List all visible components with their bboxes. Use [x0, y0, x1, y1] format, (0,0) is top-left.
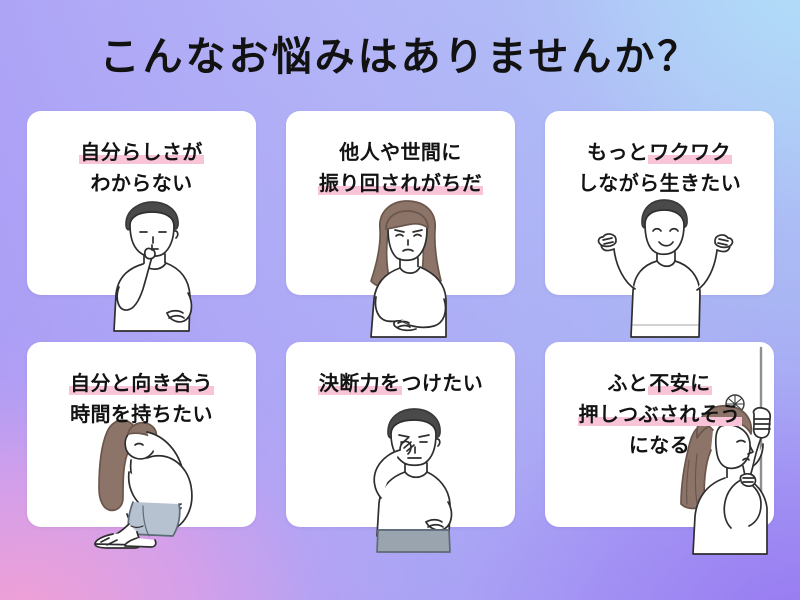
worry-card-1-text: 自分らしさが わからない — [27, 137, 256, 199]
excited-man-arms-raised-icon — [581, 197, 747, 339]
highlighted-phrase: 決断力を — [318, 371, 402, 395]
worry-card-4[interactable]: 自分と向き合う 時間を持ちたい — [27, 342, 256, 527]
plain-phrase: もっと — [587, 140, 648, 164]
worry-card-grid: 自分らしさが わからない — [27, 111, 773, 527]
worry-card-4-text: 自分と向き合う 時間を持ちたい — [27, 368, 256, 430]
worry-card-6[interactable]: ふと不安に 押しつぶされそう になる — [545, 342, 774, 527]
highlighted-phrase: 自分らしさが — [79, 140, 203, 164]
worry-card-6-text: ふと不安に 押しつぶされそう になる — [545, 368, 774, 461]
thinking-man-icon — [89, 197, 215, 337]
plain-phrase: つけたい — [402, 371, 484, 395]
plain-phrase: 他人や世間に — [339, 140, 461, 164]
plain-phrase: ふと — [607, 371, 648, 395]
highlighted-phrase: ワクワク — [648, 140, 732, 164]
highlighted-phrase: 不安に — [648, 371, 711, 395]
plain-phrase: 時間を持ちたい — [70, 402, 213, 426]
worry-card-2[interactable]: 他人や世間に 振り回されがちだ — [286, 111, 515, 295]
worry-card-2-text: 他人や世間に 振り回されがちだ — [286, 137, 515, 199]
page-title: こんなお悩みはありませんか？ — [0, 30, 800, 84]
worry-card-3[interactable]: もっとワクワク しながら生きたい — [545, 111, 774, 295]
worry-card-5[interactable]: 決断力をつけたい — [286, 342, 515, 527]
highlighted-phrase: 振り回されがちだ — [318, 171, 483, 195]
anxious-woman-arms-crossed-icon — [338, 199, 474, 339]
plain-phrase: になる — [629, 433, 690, 457]
plain-phrase: しながら生きたい — [578, 171, 741, 195]
highlighted-phrase: 押しつぶされそう — [578, 402, 742, 426]
highlighted-phrase: 自分と向き合う — [69, 371, 214, 395]
plain-phrase: わからない — [91, 171, 193, 195]
worry-card-5-text: 決断力をつけたい — [286, 368, 515, 399]
worry-card-3-text: もっとワクワク しながら生きたい — [545, 137, 774, 199]
worry-card-1[interactable]: 自分らしさが わからない — [27, 111, 256, 295]
